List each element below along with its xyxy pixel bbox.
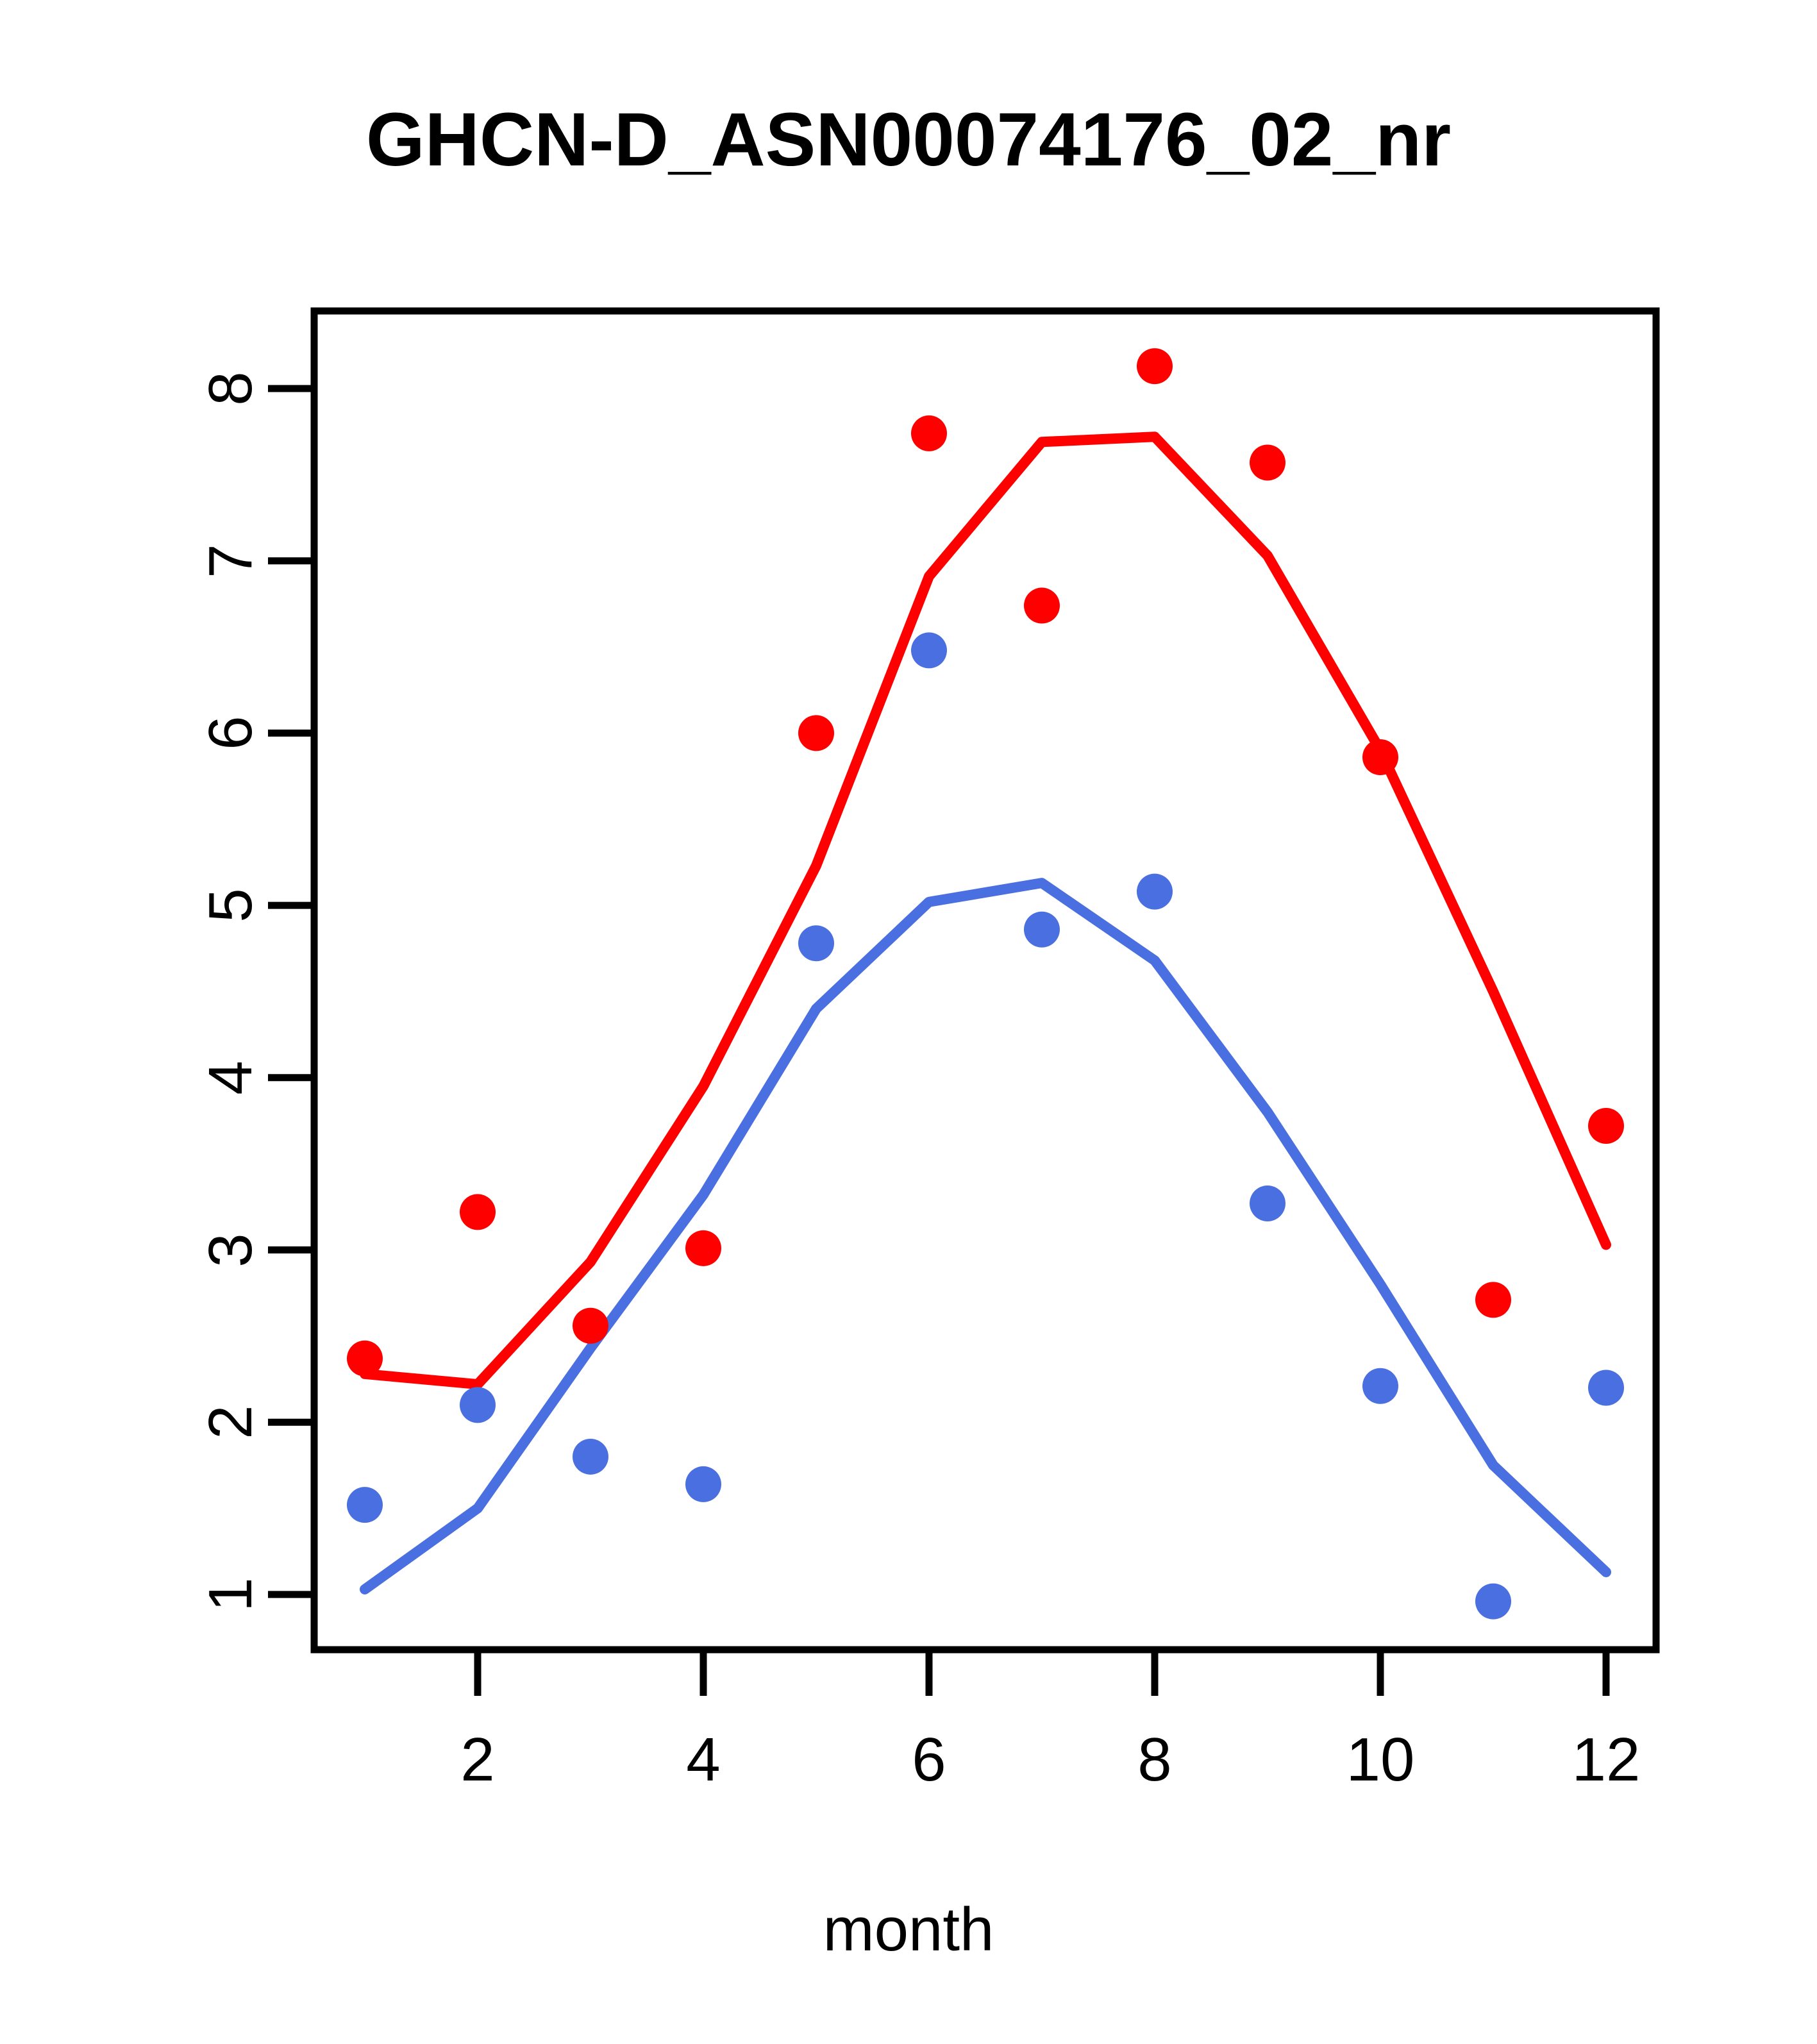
data-series	[347, 348, 1624, 1620]
point-blue-points	[1362, 1368, 1398, 1404]
point-red-points	[685, 1230, 721, 1266]
point-blue-points	[1588, 1370, 1624, 1405]
point-red-points	[1137, 348, 1173, 384]
y-tick-label: 7	[196, 523, 266, 599]
x-tick-label: 12	[1572, 1725, 1641, 1795]
point-red-points	[798, 715, 834, 751]
point-blue-points	[573, 1439, 608, 1475]
axes	[268, 311, 1656, 1696]
y-tick-label: 4	[196, 1039, 266, 1116]
point-red-points	[347, 1341, 383, 1377]
point-blue-points	[1137, 874, 1173, 910]
point-red-points	[1475, 1282, 1511, 1318]
point-blue-points	[685, 1466, 721, 1502]
point-blue-points	[798, 925, 834, 961]
point-red-points	[460, 1194, 496, 1230]
x-tick-label: 2	[460, 1725, 494, 1795]
line-blue-line	[365, 883, 1606, 1589]
point-red-points	[573, 1308, 608, 1344]
x-tick-label: 8	[1137, 1725, 1171, 1795]
x-axis-label: month	[0, 1895, 1817, 1965]
point-red-points	[1362, 739, 1398, 775]
x-tick-label: 4	[686, 1725, 720, 1795]
point-blue-points	[347, 1487, 383, 1523]
x-tick-label: 10	[1346, 1725, 1415, 1795]
point-red-points	[911, 415, 947, 451]
point-red-points	[1024, 588, 1060, 624]
point-blue-points	[460, 1387, 496, 1423]
line-red-line	[365, 437, 1606, 1384]
point-red-points	[1588, 1108, 1624, 1144]
y-tick-label: 1	[196, 1556, 266, 1633]
point-blue-points	[1250, 1185, 1285, 1221]
plot-canvas	[0, 0, 1817, 2044]
point-blue-points	[1024, 912, 1060, 948]
x-tick-label: 6	[912, 1725, 946, 1795]
y-tick-label: 3	[196, 1212, 266, 1289]
point-blue-points	[1475, 1584, 1511, 1620]
y-tick-label: 5	[196, 867, 266, 944]
y-tick-label: 2	[196, 1384, 266, 1461]
chart-figure: GHCN-D_ASN00074176_02_nr 12345678 246810…	[0, 0, 1817, 2044]
y-tick-label: 6	[196, 694, 266, 771]
point-blue-points	[911, 632, 947, 668]
point-red-points	[1250, 445, 1285, 481]
y-tick-label: 8	[196, 350, 266, 427]
